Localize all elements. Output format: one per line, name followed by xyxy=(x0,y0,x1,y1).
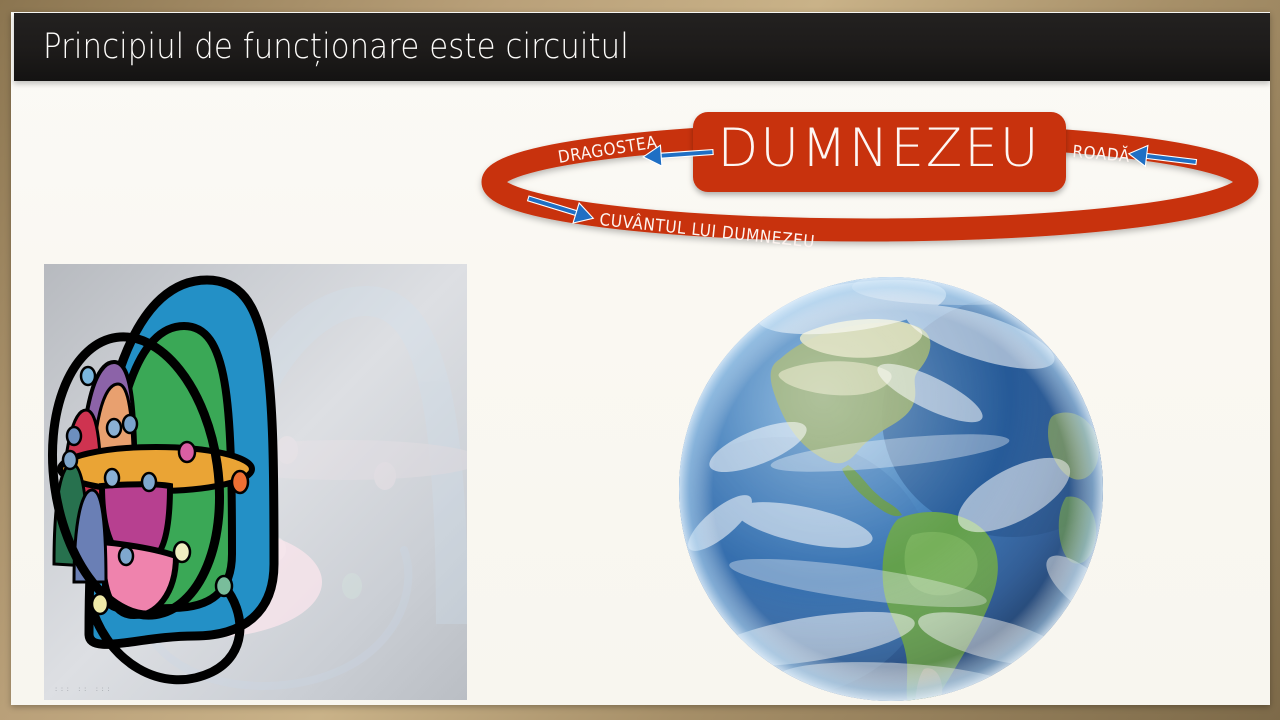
circuit-diagram: DUMNEZEU DRAGOSTEA ROADĂ xyxy=(481,104,1270,254)
abstract-loops-illustration: ::: :: ::: xyxy=(44,264,467,700)
page-title: Principiul de funcționare este circuitul xyxy=(43,30,629,65)
dumnezeu-box-label: DUMNEZEU xyxy=(717,118,1040,179)
earth-globe-image xyxy=(662,267,1121,705)
slide-canvas: Principiul de funcționare este circuitul xyxy=(11,12,1270,705)
illustration-watermark: ::: :: ::: xyxy=(54,685,112,693)
title-bar: Principiul de funcționare este circuitul xyxy=(14,13,1270,81)
slide-frame: Principiul de funcționare este circuitul xyxy=(0,0,1280,720)
